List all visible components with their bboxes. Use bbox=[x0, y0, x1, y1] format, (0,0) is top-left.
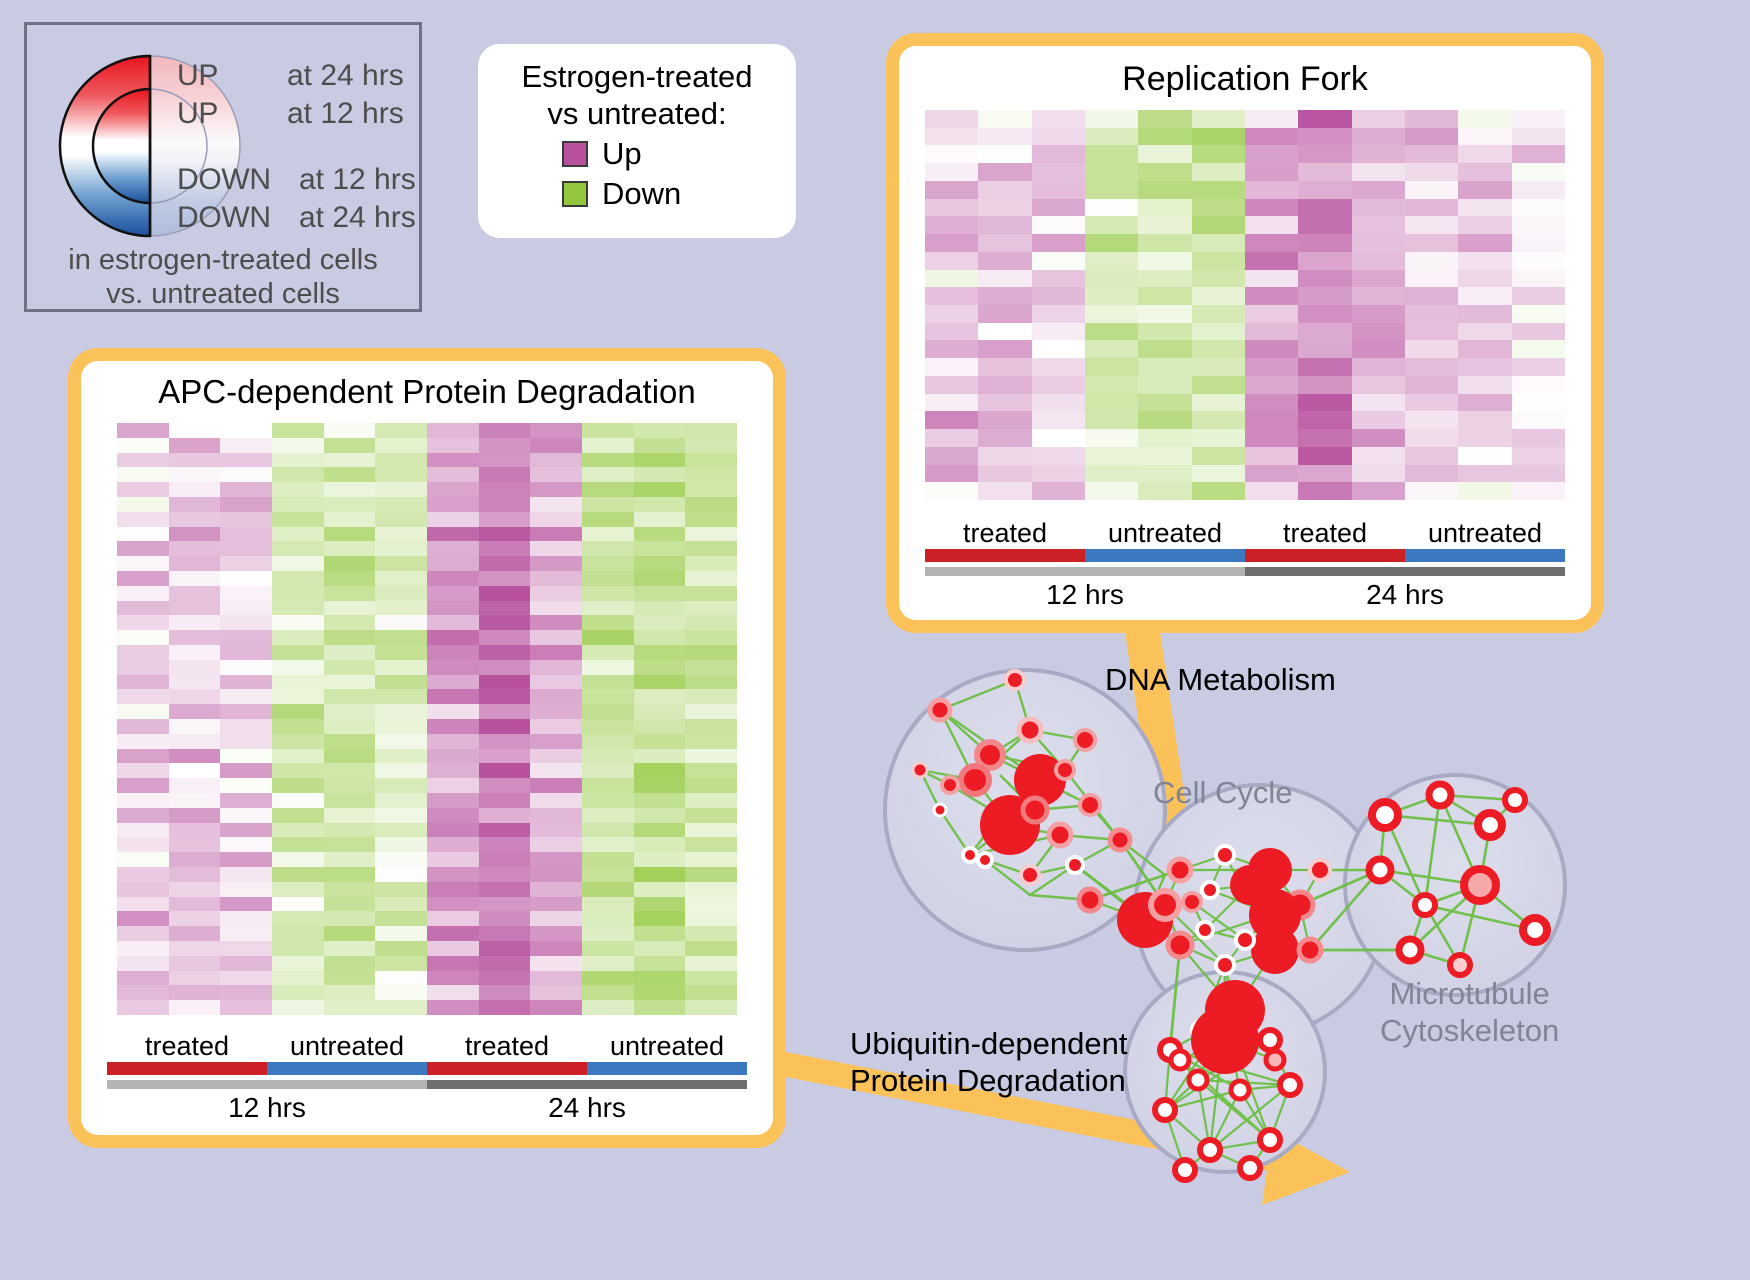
heatmap-cell bbox=[272, 882, 324, 897]
heatmap-cell bbox=[272, 527, 324, 542]
heatmap-cell bbox=[1032, 429, 1085, 447]
heatmap-cell bbox=[1138, 323, 1191, 341]
heatmap-cell bbox=[530, 793, 582, 808]
heatmap-cell bbox=[117, 645, 169, 660]
heatmap-cell bbox=[220, 793, 272, 808]
network-node bbox=[942, 777, 958, 793]
time-labels-replication: 12 hrs 24 hrs bbox=[925, 579, 1565, 611]
heatmap-cell bbox=[685, 852, 737, 867]
heatmap-cell bbox=[1032, 411, 1085, 429]
heatmap-cell bbox=[479, 615, 531, 630]
heatmap-cell bbox=[117, 808, 169, 823]
heatmap-cell bbox=[1192, 358, 1245, 376]
heatmap-cell bbox=[530, 704, 582, 719]
heatmap-cell bbox=[169, 823, 221, 838]
heatmap-cell bbox=[582, 586, 634, 601]
network-node bbox=[1450, 955, 1470, 975]
heatmap-cell bbox=[220, 453, 272, 468]
heatmap-cell bbox=[582, 778, 634, 793]
heatmap-cell bbox=[324, 675, 376, 690]
bar-24hrs bbox=[427, 1080, 747, 1089]
heatmap-cell bbox=[1245, 181, 1298, 199]
heatmap-cell bbox=[1192, 429, 1245, 447]
heatmap-cell bbox=[1085, 110, 1138, 128]
heatmap-cell bbox=[117, 793, 169, 808]
heatmap-cell bbox=[375, 808, 427, 823]
heatmap-cell bbox=[582, 793, 634, 808]
heatmap-cell bbox=[1458, 270, 1511, 288]
heatmap-cell bbox=[220, 689, 272, 704]
heatmap-cell bbox=[1032, 340, 1085, 358]
heatmap-cell bbox=[582, 704, 634, 719]
condition-bars-replication bbox=[925, 549, 1565, 562]
heatmap-cell bbox=[117, 630, 169, 645]
heatmap-cell bbox=[1352, 394, 1405, 412]
heatmap-cell bbox=[375, 482, 427, 497]
heatmap-cell bbox=[117, 497, 169, 512]
network-node bbox=[1231, 1081, 1249, 1099]
heatmap-cell bbox=[1405, 270, 1458, 288]
heatmap-cell bbox=[272, 971, 324, 986]
heatmap-cell bbox=[375, 512, 427, 527]
heatmap-cell bbox=[272, 808, 324, 823]
heatmap-cell bbox=[978, 199, 1031, 217]
heatmap-cell bbox=[1192, 199, 1245, 217]
strip-replication: treated untreated treated untreated 12 h… bbox=[925, 518, 1565, 611]
ring-time-up-24: at 24 hrs bbox=[287, 59, 404, 93]
heatmap-cell bbox=[117, 956, 169, 971]
heatmap-cell bbox=[582, 527, 634, 542]
heatmap-cell bbox=[272, 571, 324, 586]
heatmap-cell bbox=[978, 394, 1031, 412]
heatmap-cell bbox=[324, 852, 376, 867]
heatmap-cell bbox=[1138, 394, 1191, 412]
time-labels-apc: 12 hrs 24 hrs bbox=[107, 1092, 747, 1124]
heatmap-cell bbox=[978, 234, 1031, 252]
heatmap-cell bbox=[427, 601, 479, 616]
heatmap-cell bbox=[1085, 358, 1138, 376]
ring-time-down-24: at 24 hrs bbox=[299, 201, 416, 235]
heatmap-cell bbox=[479, 660, 531, 675]
heatmap-cell bbox=[324, 823, 376, 838]
heatmap-cell bbox=[272, 453, 324, 468]
heatmap-replication-fork bbox=[925, 110, 1565, 500]
heatmap-cell bbox=[1192, 305, 1245, 323]
heatmap-cell bbox=[925, 340, 978, 358]
heatmap-cell bbox=[272, 675, 324, 690]
heatmap-cell bbox=[479, 793, 531, 808]
heatmap-cell bbox=[1085, 128, 1138, 146]
heatmap-cell bbox=[427, 630, 479, 645]
heatmap-cell bbox=[1192, 216, 1245, 234]
heatmap-cell bbox=[530, 837, 582, 852]
bar-treated bbox=[107, 1062, 267, 1075]
ring-time-up-12: at 12 hrs bbox=[287, 97, 404, 131]
heatmap-cell bbox=[117, 586, 169, 601]
heatmap-cell bbox=[1458, 216, 1511, 234]
heatmap-cell bbox=[582, 749, 634, 764]
heatmap-cell bbox=[1405, 252, 1458, 270]
heatmap-cell bbox=[479, 630, 531, 645]
heatmap-cell bbox=[324, 971, 376, 986]
heatmap-cell bbox=[685, 793, 737, 808]
heatmap-cell bbox=[117, 985, 169, 1000]
heatmap-cell bbox=[1192, 482, 1245, 500]
heatmap-cell bbox=[530, 438, 582, 453]
heatmap-cell bbox=[375, 467, 427, 482]
heatmap-cell bbox=[925, 270, 978, 288]
heatmap-cell bbox=[1192, 270, 1245, 288]
heatmap-cell bbox=[427, 571, 479, 586]
heatmap-cell bbox=[1298, 465, 1351, 483]
panel-apc-degradation: APC-dependent Protein Degradation treate… bbox=[68, 348, 786, 1148]
heatmap-cell bbox=[324, 778, 376, 793]
heatmap-cell bbox=[169, 675, 221, 690]
heatmap-cell bbox=[1458, 482, 1511, 500]
heatmap-cell bbox=[1298, 394, 1351, 412]
heatmap-cell bbox=[582, 763, 634, 778]
heatmap-cell bbox=[1405, 305, 1458, 323]
heatmap-cell bbox=[634, 837, 686, 852]
bar-untreated bbox=[1085, 549, 1245, 562]
heatmap-cell bbox=[220, 660, 272, 675]
heatmap-cell bbox=[978, 411, 1031, 429]
heatmap-cell bbox=[1032, 447, 1085, 465]
heatmap-cell bbox=[530, 911, 582, 926]
heatmap-cell bbox=[1512, 429, 1565, 447]
heatmap-cell bbox=[427, 837, 479, 852]
heatmap-cell bbox=[634, 556, 686, 571]
heatmap-cell bbox=[1405, 340, 1458, 358]
heatmap-cell bbox=[169, 660, 221, 675]
heatmap-cell bbox=[427, 586, 479, 601]
heatmap-cell bbox=[925, 411, 978, 429]
heatmap-cell bbox=[479, 749, 531, 764]
heatmap-cell bbox=[220, 897, 272, 912]
heatmap-cell bbox=[117, 556, 169, 571]
heatmap-cell bbox=[272, 911, 324, 926]
heatmap-cell bbox=[1085, 181, 1138, 199]
heatmap-cell bbox=[685, 941, 737, 956]
heatmap-cell bbox=[169, 467, 221, 482]
heatmap-cell bbox=[634, 438, 686, 453]
heatmap-cell bbox=[220, 882, 272, 897]
heatmap-cell bbox=[1512, 394, 1565, 412]
heatmap-cell bbox=[634, 601, 686, 616]
heatmap-cell bbox=[634, 763, 686, 778]
heatmap-cell bbox=[272, 852, 324, 867]
heatmap-cell bbox=[978, 429, 1031, 447]
heatmap-cell bbox=[1512, 234, 1565, 252]
heatmap-cell bbox=[925, 305, 978, 323]
heatmap-cell bbox=[1405, 376, 1458, 394]
heatmap-cell bbox=[530, 660, 582, 675]
heatmap-cell bbox=[169, 1000, 221, 1015]
heatmap-cell bbox=[272, 897, 324, 912]
heatmap-cell bbox=[1138, 110, 1191, 128]
heatmap-cell bbox=[375, 749, 427, 764]
heatmap-cell bbox=[925, 110, 978, 128]
heatmap-cell bbox=[1405, 287, 1458, 305]
heatmap-cell bbox=[978, 287, 1031, 305]
heatmap-cell bbox=[375, 793, 427, 808]
heatmap-cell bbox=[169, 837, 221, 852]
heatmap-cell bbox=[1085, 411, 1138, 429]
heatmap-cell bbox=[582, 601, 634, 616]
heatmap-cell bbox=[479, 689, 531, 704]
network-node bbox=[1464, 869, 1496, 901]
heatmap-cell bbox=[220, 1000, 272, 1015]
heatmap-cell bbox=[272, 438, 324, 453]
heatmap-cell bbox=[324, 601, 376, 616]
key-row-down: Down bbox=[478, 176, 796, 212]
heatmap-cell bbox=[117, 823, 169, 838]
heatmap-cell bbox=[978, 447, 1031, 465]
heatmap-cell bbox=[685, 512, 737, 527]
heatmap-cell bbox=[117, 941, 169, 956]
heatmap-cell bbox=[685, 423, 737, 438]
heatmap-cell bbox=[530, 971, 582, 986]
heatmap-cell bbox=[1245, 128, 1298, 146]
network-node bbox=[1372, 802, 1398, 828]
condition-label: treated bbox=[925, 518, 1085, 549]
heatmap-cell bbox=[1298, 234, 1351, 252]
heatmap-cell bbox=[925, 234, 978, 252]
heatmap-cell bbox=[1138, 411, 1191, 429]
heatmap-cell bbox=[1512, 465, 1565, 483]
heatmap-cell bbox=[272, 985, 324, 1000]
heatmap-cell bbox=[685, 971, 737, 986]
heatmap-cell bbox=[427, 867, 479, 882]
heatmap-cell bbox=[1032, 287, 1085, 305]
heatmap-cell bbox=[1512, 376, 1565, 394]
heatmap-cell bbox=[427, 541, 479, 556]
heatmap-cell bbox=[582, 467, 634, 482]
heatmap-cell bbox=[685, 645, 737, 660]
heatmap-cell bbox=[1512, 287, 1565, 305]
bar-24hrs bbox=[1245, 567, 1565, 576]
heatmap-cell bbox=[582, 438, 634, 453]
network-node bbox=[913, 763, 927, 777]
heatmap-cell bbox=[1032, 199, 1085, 217]
heatmap-cell bbox=[117, 571, 169, 586]
heatmap-cell bbox=[220, 719, 272, 734]
network-node bbox=[1523, 918, 1547, 942]
heatmap-cell bbox=[220, 763, 272, 778]
heatmap-cell bbox=[324, 660, 376, 675]
heatmap-cell bbox=[685, 897, 737, 912]
heatmap-cell bbox=[1032, 323, 1085, 341]
heatmap-cell bbox=[634, 645, 686, 660]
heatmap-cell bbox=[1192, 340, 1245, 358]
heatmap-cell bbox=[117, 512, 169, 527]
heatmap-cell bbox=[324, 423, 376, 438]
heatmap-cell bbox=[582, 630, 634, 645]
heatmap-cell bbox=[530, 956, 582, 971]
cluster-label-ubiquitin: Ubiquitin-dependent Protein Degradation bbox=[850, 1025, 1128, 1099]
heatmap-cell bbox=[978, 270, 1031, 288]
heatmap-cell bbox=[1192, 394, 1245, 412]
bar-treated bbox=[427, 1062, 587, 1075]
heatmap-cell bbox=[169, 512, 221, 527]
heatmap-cell bbox=[530, 941, 582, 956]
heatmap-cell bbox=[582, 941, 634, 956]
heatmap-cell bbox=[634, 541, 686, 556]
condition-label: treated bbox=[107, 1031, 267, 1062]
heatmap-cell bbox=[582, 882, 634, 897]
heatmap-cell bbox=[1512, 128, 1565, 146]
network-node bbox=[1056, 761, 1074, 779]
time-label: 24 hrs bbox=[1245, 579, 1565, 611]
network-node bbox=[1399, 939, 1421, 961]
heatmap-cell bbox=[634, 630, 686, 645]
heatmap-cell bbox=[1085, 252, 1138, 270]
heatmap-cell bbox=[1405, 181, 1458, 199]
heatmap-cell bbox=[1352, 305, 1405, 323]
heatmap-cell bbox=[530, 719, 582, 734]
heatmap-cell bbox=[1458, 358, 1511, 376]
time-bars-apc bbox=[107, 1080, 747, 1089]
heatmap-cell bbox=[978, 181, 1031, 199]
heatmap-cell bbox=[1192, 145, 1245, 163]
heatmap-cell bbox=[1245, 252, 1298, 270]
heatmap-cell bbox=[375, 763, 427, 778]
heatmap-cell bbox=[1458, 465, 1511, 483]
heatmap-cell bbox=[1298, 163, 1351, 181]
heatmap-cell bbox=[479, 423, 531, 438]
heatmap-cell bbox=[1138, 340, 1191, 358]
heatmap-cell bbox=[220, 615, 272, 630]
heatmap-cell bbox=[634, 852, 686, 867]
condition-label: untreated bbox=[267, 1031, 427, 1062]
heatmap-cell bbox=[685, 749, 737, 764]
heatmap-cell bbox=[479, 926, 531, 941]
heatmap-cell bbox=[1298, 358, 1351, 376]
heatmap-cell bbox=[1032, 465, 1085, 483]
heatmap-cell bbox=[427, 763, 479, 778]
heatmap-cell bbox=[117, 882, 169, 897]
heatmap-cell bbox=[220, 586, 272, 601]
heatmap-cell bbox=[1032, 270, 1085, 288]
heatmap-cell bbox=[1245, 465, 1298, 483]
heatmap-cell bbox=[685, 571, 737, 586]
heatmap-cell bbox=[925, 447, 978, 465]
heatmap-cell bbox=[530, 763, 582, 778]
heatmap-cell bbox=[272, 1000, 324, 1015]
heatmap-cell bbox=[634, 660, 686, 675]
heatmap-cell bbox=[324, 497, 376, 512]
heatmap-cell bbox=[272, 956, 324, 971]
heatmap-cell bbox=[634, 823, 686, 838]
network-node bbox=[1155, 1100, 1175, 1120]
color-key-box: Estrogen-treated vs untreated: Up Down bbox=[478, 44, 796, 238]
network-node bbox=[1191, 1006, 1259, 1074]
heatmap-cell bbox=[169, 438, 221, 453]
heatmap-cell bbox=[530, 882, 582, 897]
heatmap-cell bbox=[117, 453, 169, 468]
heatmap-cell bbox=[427, 941, 479, 956]
heatmap-cell bbox=[685, 823, 737, 838]
heatmap-cell bbox=[1352, 287, 1405, 305]
heatmap-cell bbox=[1085, 287, 1138, 305]
heatmap-cell bbox=[1192, 234, 1245, 252]
heatmap-cell bbox=[169, 778, 221, 793]
heatmap-cell bbox=[1458, 234, 1511, 252]
heatmap-cell bbox=[582, 660, 634, 675]
network-node bbox=[1216, 956, 1234, 974]
heatmap-cell bbox=[1245, 482, 1298, 500]
heatmap-cell bbox=[272, 482, 324, 497]
heatmap-cell bbox=[634, 675, 686, 690]
network-node bbox=[1110, 830, 1130, 850]
heatmap-cell bbox=[1458, 429, 1511, 447]
heatmap-cell bbox=[427, 823, 479, 838]
heatmap-cell bbox=[272, 941, 324, 956]
heatmap-cell bbox=[324, 645, 376, 660]
heatmap-cell bbox=[634, 467, 686, 482]
heatmap-cell bbox=[427, 882, 479, 897]
down-color-swatch bbox=[562, 181, 588, 207]
heatmap-cell bbox=[375, 778, 427, 793]
heatmap-cell bbox=[1458, 340, 1511, 358]
heatmap-cell bbox=[530, 497, 582, 512]
heatmap-cell bbox=[479, 571, 531, 586]
heatmap-cell bbox=[978, 340, 1031, 358]
heatmap-cell bbox=[1138, 447, 1191, 465]
heatmap-cell bbox=[220, 630, 272, 645]
heatmap-cell bbox=[427, 734, 479, 749]
heatmap-cell bbox=[1138, 128, 1191, 146]
heatmap-cell bbox=[1032, 305, 1085, 323]
heatmap-cell bbox=[479, 704, 531, 719]
heatmap-cell bbox=[634, 734, 686, 749]
heatmap-cell bbox=[1512, 482, 1565, 500]
heatmap-cell bbox=[978, 305, 1031, 323]
heatmap-cell bbox=[1352, 163, 1405, 181]
heatmap-cell bbox=[685, 734, 737, 749]
heatmap-cell bbox=[685, 438, 737, 453]
heatmap-cell bbox=[324, 615, 376, 630]
heatmap-cell bbox=[169, 808, 221, 823]
heatmap-cell bbox=[324, 985, 376, 1000]
key-label-down: Down bbox=[602, 176, 712, 212]
heatmap-cell bbox=[582, 734, 634, 749]
heatmap-cell bbox=[117, 763, 169, 778]
heatmap-cell bbox=[634, 1000, 686, 1015]
bar-untreated bbox=[587, 1062, 747, 1075]
heatmap-cell bbox=[978, 163, 1031, 181]
heatmap-cell bbox=[479, 867, 531, 882]
heatmap-cell bbox=[1245, 163, 1298, 181]
heatmap-cell bbox=[324, 467, 376, 482]
heatmap-cell bbox=[530, 512, 582, 527]
network-node bbox=[1260, 1130, 1280, 1150]
network-node bbox=[1429, 784, 1451, 806]
heatmap-cell bbox=[169, 793, 221, 808]
condition-label: treated bbox=[427, 1031, 587, 1062]
heatmap-cell bbox=[375, 882, 427, 897]
heatmap-cell bbox=[1298, 199, 1351, 217]
heatmap-cell bbox=[925, 287, 978, 305]
heatmap-cell bbox=[220, 926, 272, 941]
heatmap-cell bbox=[530, 926, 582, 941]
heatmap-cell bbox=[169, 630, 221, 645]
heatmap-cell bbox=[925, 323, 978, 341]
heatmap-cell bbox=[925, 429, 978, 447]
heatmap-cell bbox=[272, 586, 324, 601]
heatmap-cell bbox=[375, 453, 427, 468]
heatmap-cell bbox=[1245, 394, 1298, 412]
